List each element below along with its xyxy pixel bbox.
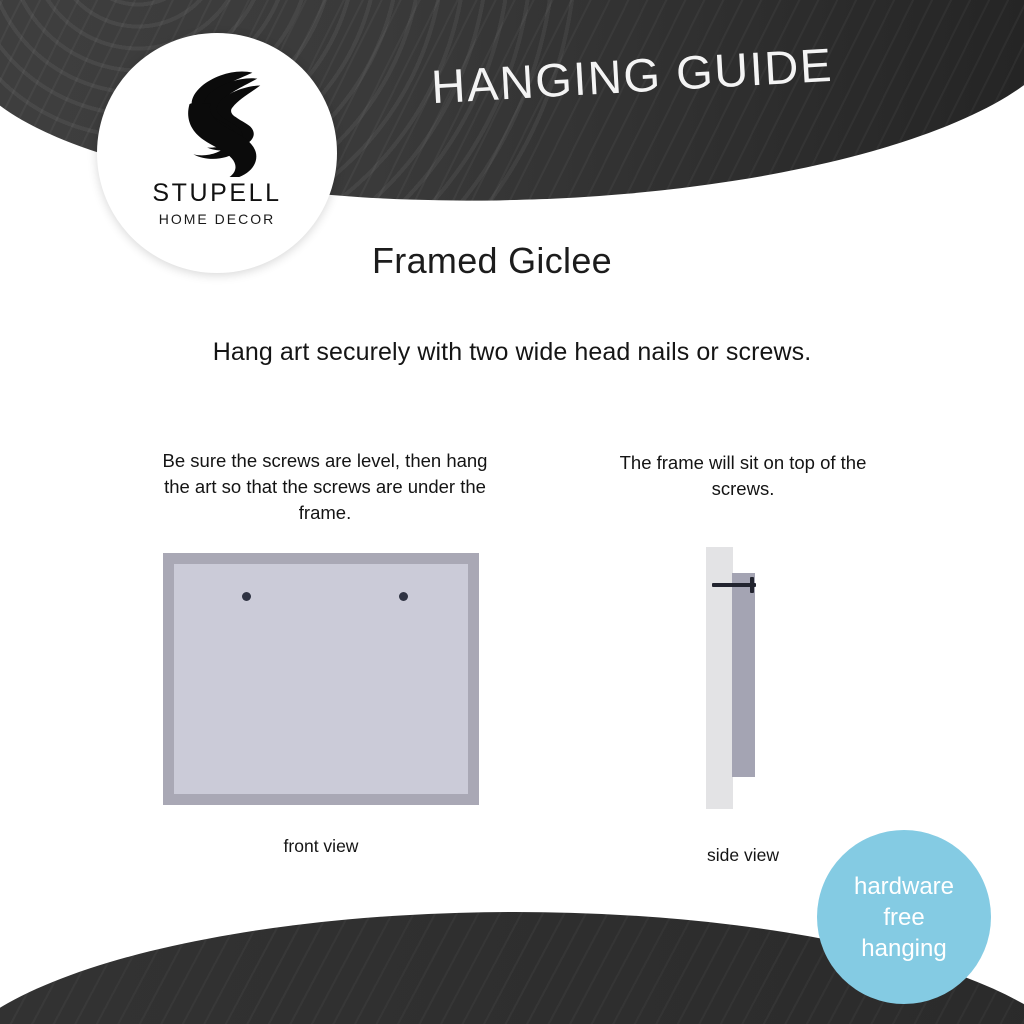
screw-dot-left-icon bbox=[242, 592, 251, 601]
front-view-caption: Be sure the screws are level, then hang … bbox=[160, 448, 490, 526]
badge-line-3: hanging bbox=[861, 933, 946, 964]
brand-tagline: HOME DECOR bbox=[159, 211, 275, 227]
stupell-swoosh-logo-icon bbox=[158, 59, 276, 177]
front-view-diagram bbox=[163, 553, 479, 805]
side-view-frame bbox=[732, 573, 755, 777]
badge-line-1: hardware bbox=[854, 871, 954, 902]
hanging-guide-page: HANGING GUIDE STUPELL HOME DECOR Framed … bbox=[0, 0, 1024, 1024]
main-instruction-text: Hang art securely with two wide head nai… bbox=[0, 338, 1024, 367]
screw-dot-right-icon bbox=[399, 592, 408, 601]
screw-head-icon bbox=[750, 577, 754, 593]
badge-line-2: free bbox=[883, 902, 924, 933]
side-view-caption: The frame will sit on top of the screws. bbox=[598, 450, 888, 502]
brand-logo-badge: STUPELL HOME DECOR bbox=[97, 33, 337, 273]
product-type-heading: Framed Giclee bbox=[372, 240, 612, 282]
side-view-diagram bbox=[706, 547, 780, 809]
side-view-label: side view bbox=[666, 845, 820, 866]
brand-name: STUPELL bbox=[152, 179, 281, 208]
front-view-label: front view bbox=[163, 836, 479, 857]
front-view-art-area bbox=[174, 564, 468, 794]
hardware-free-badge: hardware free hanging bbox=[817, 830, 991, 1004]
